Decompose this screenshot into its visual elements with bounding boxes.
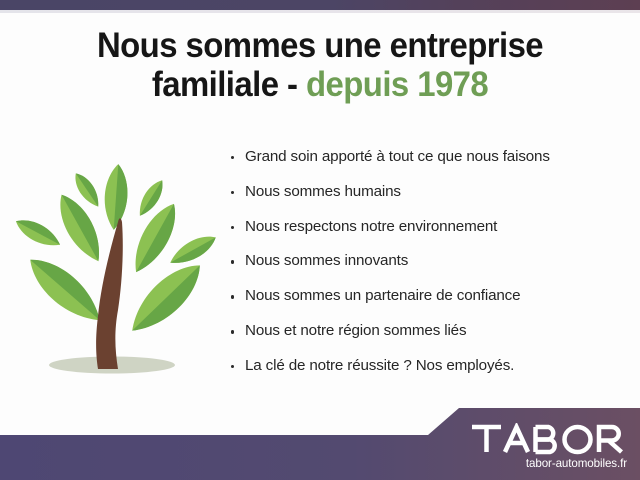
page-title-line-2-prefix: familiale -	[152, 65, 306, 104]
brand-url: tabor-automobiles.fr	[448, 457, 627, 470]
page-title-highlight: depuis 1978	[306, 65, 488, 104]
list-item: Nous et notre région sommes liés	[228, 322, 628, 340]
benefits-list: Grand soin apporté à tout ce que nous fa…	[228, 148, 628, 392]
slide-canvas: Nous sommes une entreprise familiale - d…	[0, 0, 640, 480]
list-item: Grand soin apporté à tout ce que nous fa…	[228, 148, 628, 166]
page-title-line-1: Nous sommes une entreprise	[19, 26, 621, 65]
tabor-wordmark-icon	[470, 423, 628, 456]
top-accent-bar-fade	[0, 10, 640, 13]
top-accent-bar	[0, 0, 640, 10]
page-title-line-2: familiale - depuis 1978	[19, 65, 621, 104]
tree-illustration	[8, 150, 223, 385]
list-item: Nous sommes un partenaire de confiance	[228, 287, 628, 305]
brand-logo[interactable]: tabor-automobiles.fr	[448, 423, 628, 470]
list-item: Nous sommes humains	[228, 183, 628, 201]
list-item: Nous sommes innovants	[228, 252, 628, 270]
list-item: La clé de notre réussite ? Nos employés.	[228, 357, 628, 375]
list-item: Nous respectons notre environnement	[228, 218, 628, 236]
page-title: Nous sommes une entreprise familiale - d…	[19, 26, 621, 104]
tree-trunk	[96, 218, 123, 369]
